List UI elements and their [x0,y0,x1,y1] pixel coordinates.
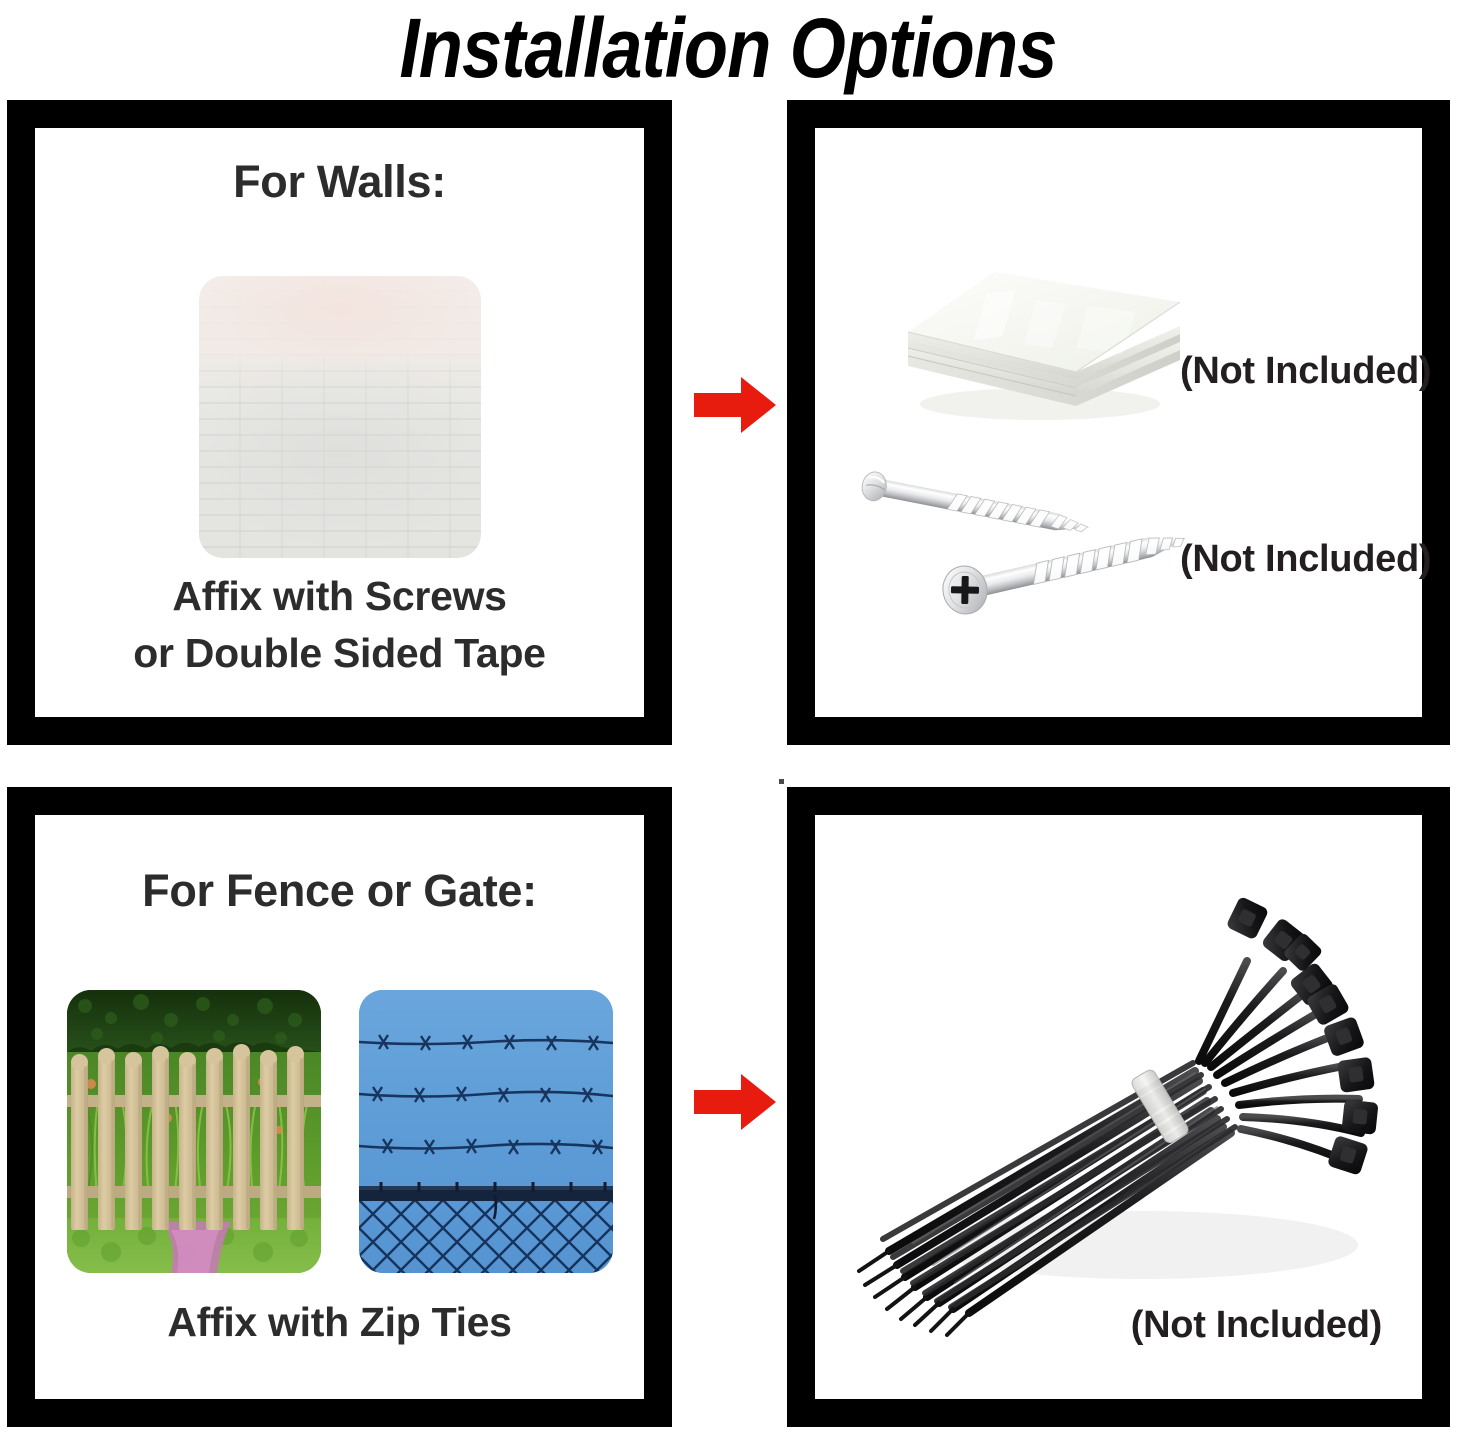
for-walls-heading: For Walls: [35,156,644,208]
image-artifact-speck [779,779,784,784]
for-walls-caption-line-2: or Double Sided Tape [35,625,644,682]
tape-stack-icon [890,254,1190,434]
picket-fence-illustration [67,990,321,1273]
screws-image [845,458,1195,648]
panel-for-fence-content: For Fence or Gate: [35,815,644,1399]
arrow-right-glyph [694,377,776,433]
panel-fence-hardware-content: (Not Included) [815,815,1422,1399]
red-arrow-right-icon-top [694,377,776,433]
zip-ties-image [843,873,1403,1343]
arrow-right-glyph [694,1074,776,1130]
tape-not-included-label: (Not Included) [1180,350,1431,393]
panel-for-walls: For Walls: Affix with Screws or Double S… [7,100,672,745]
panel-fence-hardware: (Not Included) [787,787,1450,1427]
for-walls-caption-line-1: Affix with Screws [35,568,644,625]
chain-link-fence-photo [359,990,613,1273]
for-fence-heading: For Fence or Gate: [35,865,644,917]
picket-fence-photo [67,990,321,1273]
page-title-bar: Installation Options [0,0,1457,96]
page-title: Installation Options [400,4,1057,92]
zipties-not-included-label: (Not Included) [1131,1304,1382,1347]
screws-icon [845,458,1195,648]
panel-wall-hardware-content: (Not Included) [815,128,1422,717]
panel-wall-hardware: (Not Included) [787,100,1450,745]
brick-wall-photo [199,276,481,558]
red-arrow-right-icon-bottom [694,1074,776,1130]
screws-not-included-label: (Not Included) [1180,538,1431,581]
panel-for-walls-content: For Walls: Affix with Screws or Double S… [35,128,644,717]
for-walls-caption: Affix with Screws or Double Sided Tape [35,568,644,682]
panel-for-fence-or-gate: For Fence or Gate: [7,787,672,1427]
for-fence-caption: Affix with Zip Ties [35,1294,644,1351]
double-sided-tape-image [890,254,1190,434]
zip-tie-bundle-icon [843,873,1403,1343]
chain-link-fence-illustration [359,990,613,1273]
fence-photo-row [35,990,644,1273]
